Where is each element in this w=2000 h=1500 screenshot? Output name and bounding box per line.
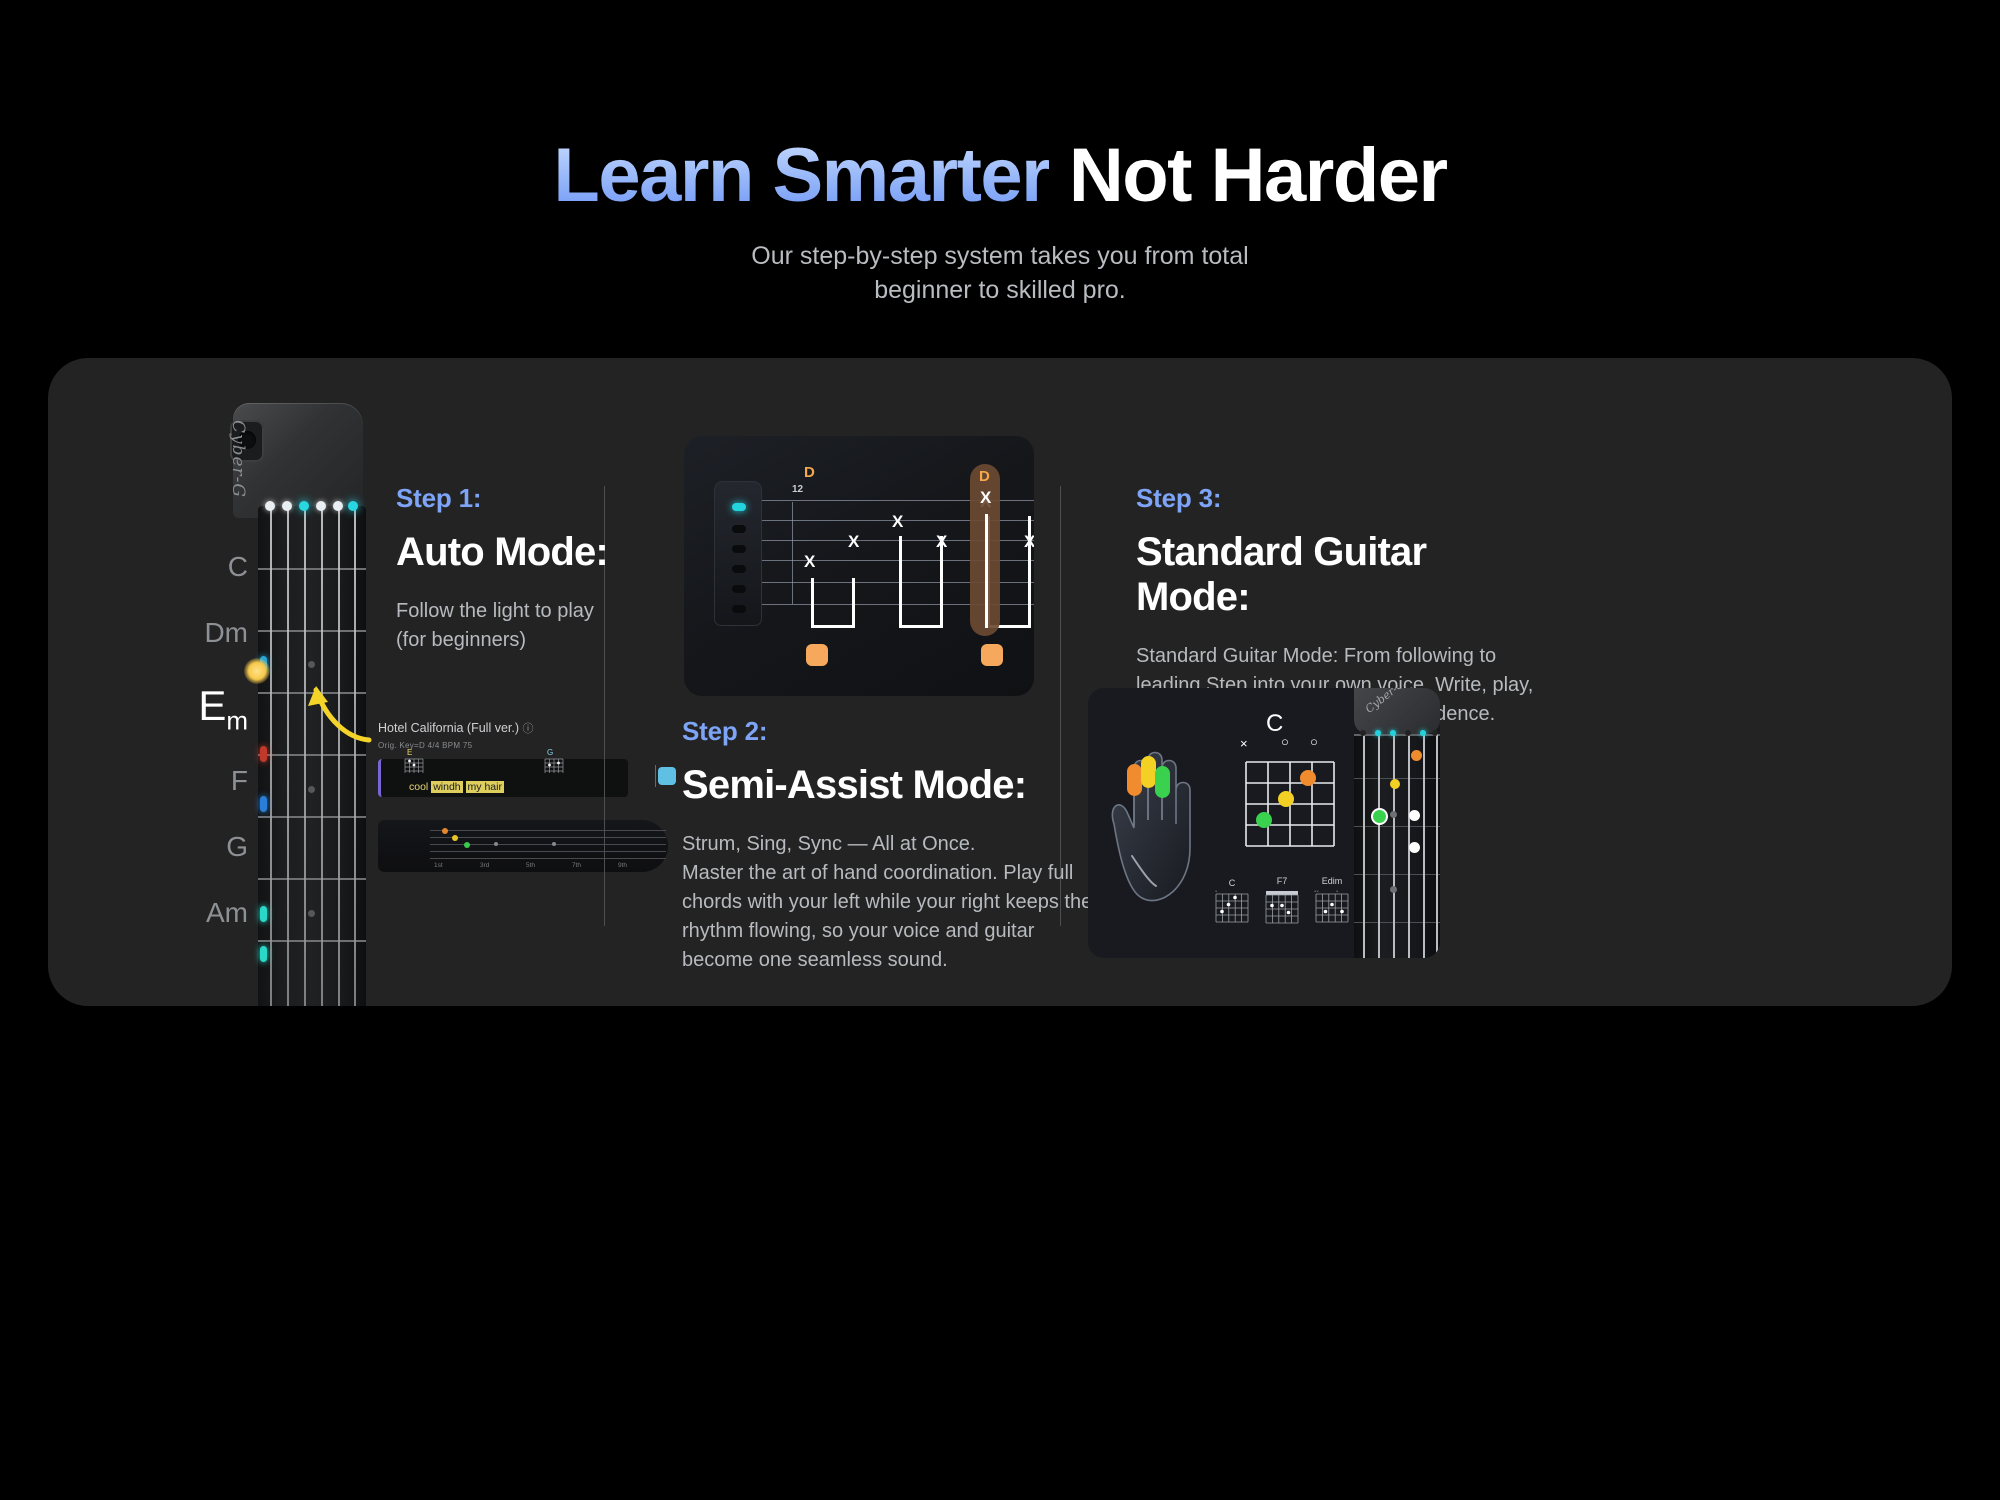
tab-fret-number: 12 (792, 484, 803, 495)
page-subtitle-line-1: Our step-by-step system takes you from t… (0, 240, 2000, 274)
fret-tick: 5th (526, 862, 535, 869)
fret-line (258, 754, 366, 756)
fret-line (258, 816, 366, 818)
chord-open-mark-o2: ○ (1310, 734, 1318, 749)
info-icon[interactable]: ⓘ (523, 723, 534, 735)
tab-neck (714, 481, 762, 626)
chord-item-dm[interactable]: Dm (148, 619, 248, 647)
tab-led (732, 565, 746, 573)
tab-led-active (732, 503, 746, 511)
tab-mute-mark: X (848, 532, 859, 552)
lyric-word-highlight-2: my hair (466, 781, 504, 793)
chord-item-am[interactable]: Am (148, 899, 248, 927)
step-1-kicker: Step 1: (396, 483, 631, 514)
chord-finger-dot-green (1256, 812, 1272, 828)
tab-beat-marker (981, 644, 1003, 666)
fret-line (258, 878, 366, 880)
chord-open-mark-o1: ○ (1281, 734, 1289, 749)
finger-tip-orange (1127, 764, 1142, 796)
fret-line (258, 630, 366, 632)
step-1-title: Auto Mode: (396, 530, 631, 575)
mini-chord-diagram-right (543, 757, 565, 775)
svg-text:×: × (1336, 890, 1339, 894)
chord-panel-fretboard (1354, 734, 1440, 958)
string-led (260, 946, 267, 962)
guitar-string (270, 506, 272, 1006)
finger-tip-green (1155, 766, 1170, 798)
tablature-panel: D 12 X X X X X X D X (684, 436, 1034, 696)
song-title-text: Hotel California (Full ver.) (378, 721, 519, 735)
tab-chord-label-2: D (979, 468, 990, 485)
lyric-word-highlight-1: windh (431, 781, 462, 793)
nut-led-active (299, 501, 309, 511)
guitar-illustration: Cyber-G (48, 358, 468, 1006)
guitar-string (287, 506, 289, 1006)
chord-item-em-suffix: m (226, 705, 248, 735)
pointer-arrow-icon (284, 678, 374, 748)
page-subtitle: Our step-by-step system takes you from t… (0, 240, 2000, 308)
fret-line (258, 940, 366, 942)
fret-tick: 7th (572, 862, 581, 869)
tab-highlight-stem (985, 514, 988, 628)
page-title-gradient-part: Learn Smarter (553, 133, 1049, 218)
svg-text:××: ×× (1314, 890, 1319, 894)
page-root: Learn Smarter Not Harder Our step-by-ste… (0, 0, 2000, 1500)
tab-led (732, 585, 746, 593)
page-title-plain-part: Not Harder (1049, 133, 1446, 218)
page-subtitle-line-2: beginner to skilled pro. (0, 274, 2000, 308)
fret-marker-dot (308, 661, 315, 668)
string-led (260, 746, 267, 762)
nut-led (282, 501, 292, 511)
nut-led (265, 501, 275, 511)
mini-chord-label-1: C (1214, 878, 1250, 888)
fret-marker-dot (308, 910, 315, 917)
tab-chord-label-1: D (804, 464, 815, 481)
step-3-title: Standard Guitar Mode: (1136, 530, 1536, 620)
chord-practice-panel: C × ○ ○ (1088, 688, 1440, 958)
fret-tick: 1st (434, 862, 443, 869)
guitar-string (304, 506, 306, 1006)
svg-text:×: × (1215, 890, 1218, 894)
nut-led-active (348, 501, 358, 511)
tab-beat-marker (806, 644, 828, 666)
step-2-kicker: Step 2: (682, 716, 1102, 747)
tab-mute-mark: X (892, 512, 903, 532)
guitar-string (354, 506, 356, 1006)
mini-chord-diagram-left (403, 757, 425, 775)
hand-icon (1098, 728, 1218, 918)
chord-finger-dot-orange (1300, 770, 1316, 786)
guitar-string (321, 506, 323, 1006)
lyric-box: E G (378, 759, 628, 797)
mini-chord-label-3: Edim (1312, 876, 1352, 886)
nut-led (316, 501, 326, 511)
step-2-title: Semi-Assist Mode: (682, 763, 1102, 808)
mini-fretboard: 1st 3rd 5th 7th 9th (378, 820, 668, 872)
fret-tick: 3rd (480, 862, 489, 869)
mini-chord-label-right: G (547, 748, 553, 757)
beat-divider (655, 765, 656, 787)
fret-line (258, 568, 366, 570)
chord-panel-neck: Cyber-G (1348, 688, 1440, 958)
tab-strum-bracket (899, 536, 943, 628)
chord-open-mark-x: × (1240, 736, 1248, 751)
guitar-string (338, 506, 340, 1006)
song-title: Hotel California (Full ver.) ⓘ (378, 720, 678, 736)
tab-mute-mark-highlighted: X (980, 488, 991, 508)
lyric-word-plain: cool (409, 781, 428, 793)
step-1-body: Follow the light to play (for beginners) (396, 597, 631, 655)
fret-marker-dot (308, 786, 315, 793)
page-header: Learn Smarter Not Harder Our step-by-ste… (0, 0, 2000, 308)
chord-list: C Dm Em F G Am (148, 553, 248, 965)
mini-chord-diagram-1[interactable]: × (1214, 890, 1250, 926)
mini-chord-label-2: F7 (1264, 876, 1300, 886)
tab-led (732, 525, 746, 533)
chord-item-em[interactable]: Em (148, 685, 248, 733)
chord-item-g[interactable]: G (148, 833, 248, 861)
step-2-body: Strum, Sing, Sync — All at Once. Master … (682, 830, 1102, 975)
song-meta: Orig. Key=D 4/4 BPM 75 (378, 741, 678, 750)
mini-chord-label-left: E (407, 748, 412, 757)
lyric-text: cool windh my hair (409, 781, 504, 793)
step-3-kicker: Step 3: (1136, 483, 1536, 514)
step-2-block: Step 2: Semi-Assist Mode: Strum, Sing, S… (682, 716, 1102, 975)
mini-chord-diagram-3[interactable]: ×× × (1314, 890, 1350, 926)
beat-indicator (658, 767, 676, 785)
fret-tick: 9th (618, 862, 627, 869)
nut-led (333, 501, 343, 511)
guitar-brand-logo: Cyber-G (228, 420, 248, 498)
tab-mute-mark: X (804, 552, 815, 572)
finger-tip-yellow (1141, 756, 1156, 788)
tab-led (732, 545, 746, 553)
page-title: Learn Smarter Not Harder (0, 138, 2000, 214)
chord-finger-dot-yellow (1278, 791, 1294, 807)
chord-item-em-root: E (198, 682, 226, 729)
string-led (260, 796, 267, 812)
tab-strum-bracket (811, 578, 855, 628)
song-player-widget: Hotel California (Full ver.) ⓘ Orig. Key… (378, 720, 678, 870)
tab-led (732, 605, 746, 613)
features-card: Cyber-G (48, 358, 1952, 1006)
chord-item-f[interactable]: F (148, 767, 248, 795)
mini-chord-diagram-2[interactable] (1264, 890, 1300, 926)
string-led (260, 906, 267, 922)
guitar-neck (258, 506, 366, 1006)
step-1-block: Step 1: Auto Mode: Follow the light to p… (396, 483, 631, 655)
chord-item-c[interactable]: C (148, 553, 248, 581)
